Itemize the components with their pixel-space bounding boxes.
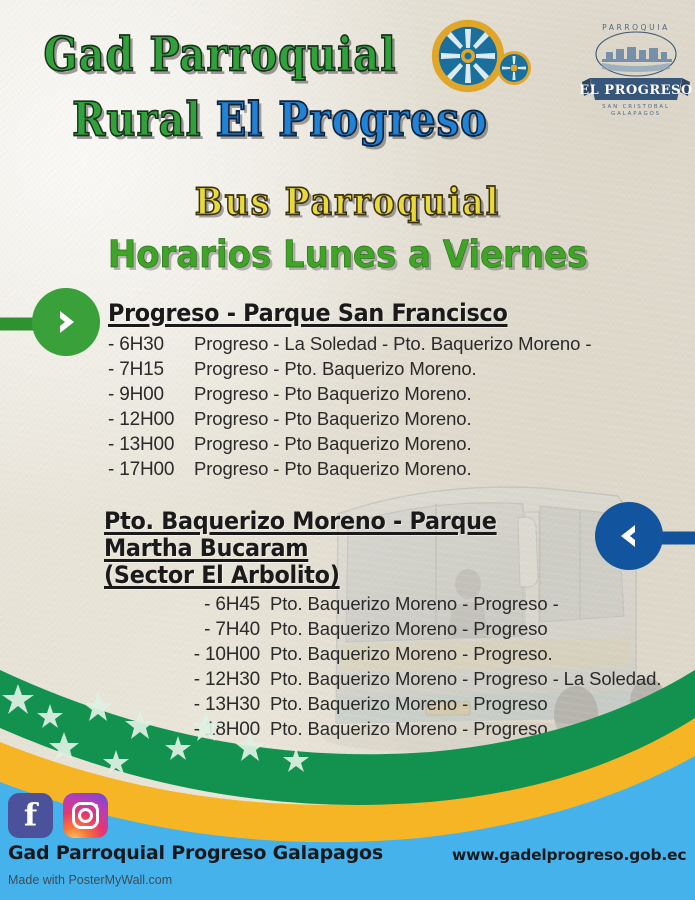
bottom-wave-decoration [0, 670, 695, 900]
schedule-time: - 10H00 [164, 645, 270, 664]
rotary-gear-icon [430, 12, 535, 104]
instagram-lens [78, 808, 93, 823]
section-2-title-line2: (Sector El Arbolito) [104, 562, 588, 589]
postermywall-watermark: Made with PosterMyWall.com [8, 873, 172, 887]
section-1-rows: - 6H30 Progreso - La Soledad - Pto. Baqu… [108, 335, 668, 479]
schedule-time: - 7H15 [108, 360, 194, 379]
website-url[interactable]: www.gadelprogreso.gob.ec [452, 846, 686, 864]
schedule-route: Pto. Baquerizo Moreno - Progreso - [270, 595, 559, 614]
schedule-route: Progreso - La Soledad - Pto. Baquerizo M… [194, 335, 591, 354]
schedule-row: - 13H00 Progreso - Pto Baquerizo Moreno. [108, 435, 668, 454]
schedule-row: - 12H00 Progreso - Pto Baquerizo Moreno. [108, 410, 668, 429]
instagram-icon[interactable] [63, 793, 108, 838]
schedule-route: Progreso - Pto Baquerizo Moreno. [194, 460, 472, 479]
schedule-section-progreso-parque-san-francisco: Progreso - Parque San Francisco - 6H30 P… [108, 300, 668, 485]
svg-text:EL PROGRESO: EL PROGRESO [579, 83, 693, 98]
schedule-row: - 6H45 Pto. Baquerizo Moreno - Progreso … [164, 595, 624, 614]
schedule-row: - 17H00 Progreso - Pto Baquerizo Moreno. [108, 460, 668, 479]
schedule-time: - 7H40 [164, 620, 270, 639]
schedule-time: - 9H00 [108, 385, 194, 404]
schedule-row: - 7H40 Pto. Baquerizo Moreno - Progreso [164, 620, 624, 639]
schedule-time: - 17H00 [108, 460, 194, 479]
schedule-row: - 6H30 Progreso - La Soledad - Pto. Baqu… [108, 335, 668, 354]
svg-text:SAN CRISTOBAL: SAN CRISTOBAL [602, 104, 670, 110]
parish-emblem-logo: PARROQUIA EL PROGRESO SAN CRISTOBAL GALA… [578, 16, 694, 116]
subtitle-horarios-days: Horarios Lunes a Viernes [10, 233, 684, 276]
schedule-route: Progreso - Pto Baquerizo Moreno. [194, 385, 472, 404]
header-line-gad-parroquial: Gad Parroquial [43, 34, 396, 77]
svg-text:GALAPAGOS: GALAPAGOS [611, 111, 661, 116]
subtitle-bus-parroquial: Bus Parroquial [195, 180, 501, 224]
schedule-time: - 6H45 [164, 595, 270, 614]
schedule-row: - 7H15 Progreso - Pto. Baquerizo Moreno. [108, 360, 668, 379]
schedule-route: Progreso - Pto Baquerizo Moreno. [194, 435, 472, 454]
badge-circle-green [32, 288, 100, 356]
schedule-row: - 9H00 Progreso - Pto Baquerizo Moreno. [108, 385, 668, 404]
schedule-row: - 10H00 Pto. Baquerizo Moreno - Progreso… [164, 645, 624, 664]
facebook-icon[interactable] [8, 793, 53, 838]
section-1-title: Progreso - Parque San Francisco [108, 300, 629, 327]
poster-canvas: Gad Parroquial RuralEl Progreso [0, 0, 695, 900]
header-line-rural: Rural [72, 92, 202, 147]
instagram-dot [94, 804, 98, 808]
schedule-route: Pto. Baquerizo Moreno - Progreso. [270, 645, 553, 664]
social-handle: Gad Parroquial Progreso Galapagos [8, 842, 383, 864]
schedule-time: - 13H00 [108, 435, 194, 454]
subtitle-block: Bus Parroquial Horarios Lunes a Viernes [0, 182, 695, 275]
schedule-route: Progreso - Pto. Baquerizo Moreno. [194, 360, 477, 379]
schedule-route: Progreso - Pto Baquerizo Moreno. [194, 410, 472, 429]
chevron-right-icon [49, 305, 83, 339]
svg-text:PARROQUIA: PARROQUIA [602, 23, 670, 32]
social-links [8, 793, 108, 838]
section-1-direction-badge [0, 288, 110, 360]
schedule-time: - 6H30 [108, 335, 194, 354]
schedule-route: Pto. Baquerizo Moreno - Progreso [270, 620, 548, 639]
schedule-time: - 12H00 [108, 410, 194, 429]
section-2-title: Pto. Baquerizo Moreno - Parque Martha Bu… [104, 508, 588, 562]
poster-header-title: Gad Parroquial [0, 34, 440, 71]
